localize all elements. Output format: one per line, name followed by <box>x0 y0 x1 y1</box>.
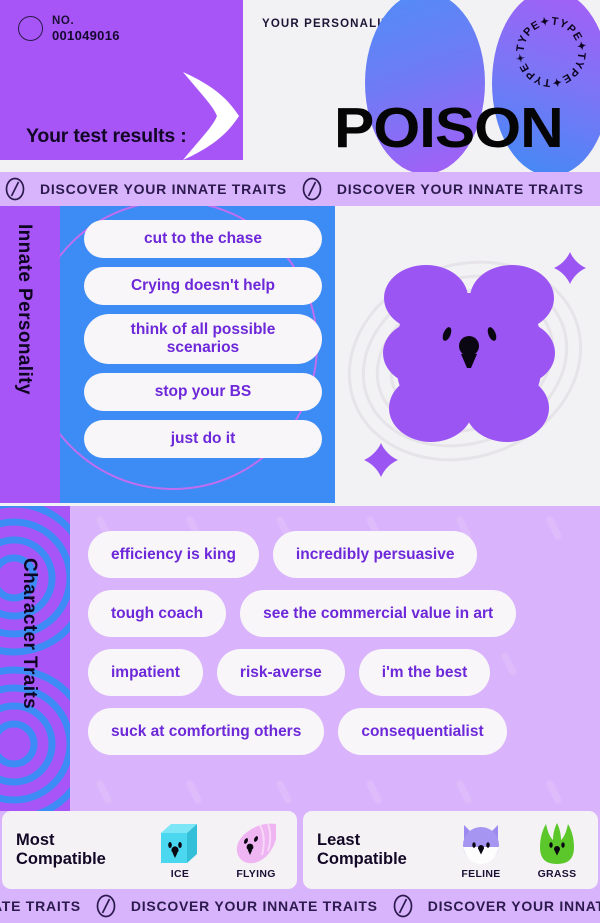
innate-chip-list: cut to the chase Crying doesn't help thi… <box>84 220 322 458</box>
compat-item-feline[interactable]: FELINE <box>450 821 512 880</box>
header-left-block: NO. 001049016 Your test results : <box>0 0 243 160</box>
trait-chip[interactable]: see the commercial value in art <box>240 590 516 637</box>
traits-chip-list: efficiency is king incredibly persuasive… <box>88 531 588 755</box>
compat-type-name: GRASS <box>538 868 577 880</box>
compat-item-ice[interactable]: ICE <box>149 821 211 880</box>
trait-chip[interactable]: tough coach <box>88 590 226 637</box>
trait-chip[interactable]: suck at comforting others <box>88 708 324 755</box>
marquee-text: DISCOVER YOUR INNATE TRAITS <box>40 181 287 197</box>
trait-chip[interactable]: incredibly persuasive <box>273 531 478 578</box>
ice-cube-icon <box>157 821 203 867</box>
personality-result-card: NO. 001049016 Your test results : YOUR P… <box>0 0 600 923</box>
quatrefoil-sparkle-icon <box>363 442 399 478</box>
serial-number-label: NO. <box>52 14 120 28</box>
svg-text:TYPE✦TYPE✦TYPE✦TYPE✦TYPE✦: TYPE✦TYPE✦TYPE✦TYPE✦TYPE✦ <box>507 8 588 89</box>
innate-personality-section: Innate Personality cut to the chase Cryi… <box>0 206 600 506</box>
marquee-text: DISCOVER YOUR INNATE TRAITS <box>131 898 378 914</box>
character-traits-section: Character Traits efficiency is king incr… <box>0 506 600 811</box>
least-compatible-title: LeastCompatible <box>317 831 407 869</box>
innate-personality-panel: Innate Personality cut to the chase Cryi… <box>0 206 335 503</box>
marquee-text: DISCOVER YOUR INNATE TRAITS <box>337 181 584 197</box>
cat-head-icon <box>458 821 504 867</box>
type-badge-text: TYPE✦TYPE✦TYPE✦TYPE✦TYPE✦ <box>507 8 588 89</box>
least-compatible-card: LeastCompatible FELINE <box>303 811 598 889</box>
trait-chip[interactable]: risk-averse <box>217 649 345 696</box>
most-compatible-title: MostCompatible <box>16 831 106 869</box>
mascot-area <box>335 206 600 503</box>
slashed-circle-icon <box>4 177 26 201</box>
personality-type-name: POISON <box>334 102 563 154</box>
compat-item-flying[interactable]: FLYING <box>225 821 287 880</box>
compat-item-grass[interactable]: GRASS <box>526 821 588 880</box>
circle-icon <box>18 16 43 41</box>
type-circular-badge: TYPE✦TYPE✦TYPE✦TYPE✦TYPE✦ <box>507 8 595 96</box>
compat-type-name: FLYING <box>236 868 275 880</box>
innate-section-label: Innate Personality <box>13 224 35 395</box>
slashed-circle-icon <box>95 894 117 918</box>
ribbon-decoration-icon <box>173 66 243 160</box>
traits-section-label: Character Traits <box>18 558 40 709</box>
trait-chip[interactable]: i'm the best <box>359 649 491 696</box>
purple-blob-mascot-icon <box>379 258 559 448</box>
test-results-title: Your test results : <box>26 125 187 148</box>
innate-chip[interactable]: Crying doesn't help <box>84 267 322 305</box>
header: NO. 001049016 Your test results : YOUR P… <box>0 0 600 172</box>
innate-chip[interactable]: stop your BS <box>84 373 322 411</box>
slashed-circle-icon <box>301 177 323 201</box>
serial-number-row: NO. 001049016 <box>18 14 120 44</box>
grass-tuft-icon <box>534 821 580 867</box>
compatibility-section: MostCompatible ICE <box>0 811 600 889</box>
trait-chip[interactable]: efficiency is king <box>88 531 259 578</box>
trait-chip[interactable]: impatient <box>88 649 203 696</box>
slashed-circle-icon <box>392 894 414 918</box>
serial-number-value: 001049016 <box>52 28 120 44</box>
marquee-text: DISCOVER YOUR INNATE TRAITS <box>0 898 81 914</box>
innate-chip[interactable]: just do it <box>84 420 322 458</box>
quatrefoil-sparkle-icon <box>553 251 587 285</box>
marquee-text: DISCOVER YOUR INNATE TRAITS <box>428 898 600 914</box>
most-compatible-card: MostCompatible ICE <box>2 811 297 889</box>
compat-type-name: ICE <box>171 868 189 880</box>
compat-type-name: FELINE <box>461 868 500 880</box>
trait-chip[interactable]: consequentialist <box>338 708 506 755</box>
marquee-band-bottom: DISCOVER YOUR INNATE TRAITS DISCOVER YOU… <box>0 889 600 923</box>
innate-chip[interactable]: think of all possible scenarios <box>84 314 322 364</box>
wing-icon <box>232 821 280 867</box>
marquee-band-top: DISCOVER YOUR INNATE TRAITS DISCOVER YOU… <box>0 172 600 206</box>
innate-chip[interactable]: cut to the chase <box>84 220 322 258</box>
